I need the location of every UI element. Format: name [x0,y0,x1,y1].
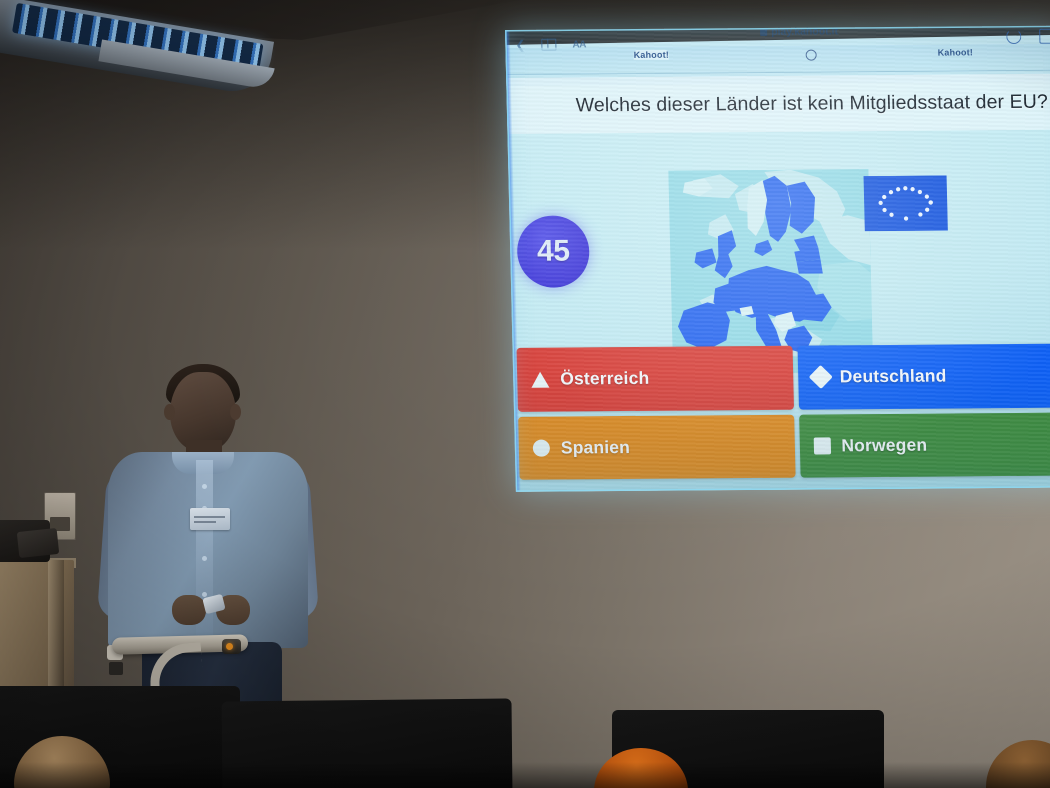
presenter-ear-right [230,404,241,420]
screenshot-scene: ❮ AA play.kahoot.it Kahoot! Kahoot! Welc… [0,0,1050,788]
tabs-icon[interactable] [1039,29,1050,44]
address-bar[interactable]: play.kahoot.it [760,26,838,38]
projection-screen: ❮ AA play.kahoot.it Kahoot! Kahoot! Welc… [505,26,1050,492]
question-media-row: 45 [507,130,1050,346]
answer-label-spanien: Spanien [561,437,631,459]
desk-equipment-secondary [17,528,59,558]
badge-text-line-1 [194,516,225,518]
question-bar: Welches dieser Länder ist kein Mitglieds… [506,74,1050,134]
countdown-timer: 45 [516,215,590,288]
shirt-button-3 [202,556,207,561]
triangle-icon [531,371,549,387]
lock-icon [760,28,767,36]
question-text: Welches dieser Länder ist kein Mitglieds… [525,90,1048,117]
shirt-button-4 [202,592,207,597]
presenter-hand-left [172,595,206,625]
visualizer-power-led [226,643,233,650]
eu-flag [864,176,948,232]
eu-member-states-map [668,169,873,374]
answer-label-deutschland: Deutschland [840,366,947,388]
circle-icon [533,439,550,456]
tab-indicator-icon[interactable] [806,50,817,61]
browser-right-controls[interactable] [1006,29,1050,44]
diamond-icon [808,365,832,389]
presenter-name-badge [190,508,230,530]
answer-button-norwegen[interactable]: Norwegen [799,412,1050,478]
countdown-timer-value: 45 [537,234,570,268]
answer-label-norwegen: Norwegen [841,434,927,456]
map-svg [668,169,873,374]
presenter-person [96,360,336,720]
shirt-button-1 [202,484,207,489]
square-icon [813,437,830,454]
answer-button-grid: Österreich Deutschland Spanien Norwegen [516,344,1050,480]
presenter-ear-left [164,404,175,420]
answer-button-oesterreich[interactable]: Österreich [516,346,793,412]
badge-text-line-2 [194,521,216,523]
monitor-back-2 [221,698,512,788]
answer-button-deutschland[interactable]: Deutschland [797,344,1050,410]
cabinet-edge [48,560,64,700]
answer-button-spanien[interactable]: Spanien [518,414,795,480]
tab-kahoot-1[interactable]: Kahoot! [634,50,670,60]
side-cabinet [0,560,74,700]
tab-strip[interactable]: Kahoot! Kahoot! [505,44,1050,75]
url-text: play.kahoot.it [771,26,838,38]
visualizer-camera-lens [109,662,123,675]
answer-label-oesterreich: Österreich [560,368,650,390]
reload-icon[interactable] [1006,29,1021,44]
tab-kahoot-2[interactable]: Kahoot! [938,47,974,57]
